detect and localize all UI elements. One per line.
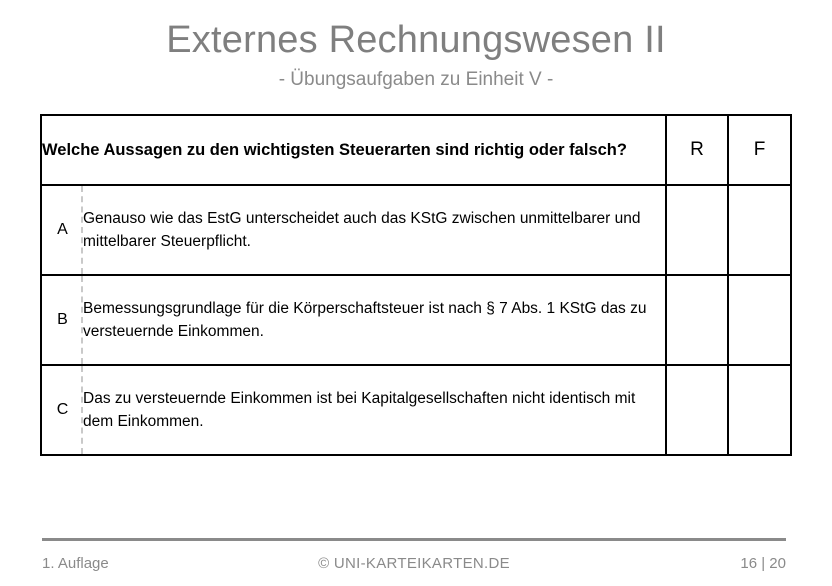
table-row: B Bemessungsgrundlage für die Körperscha… bbox=[41, 275, 791, 365]
footer-edition: 1. Auflage bbox=[42, 555, 290, 572]
dashed-divider bbox=[81, 366, 83, 454]
answer-cell-a-falsch[interactable] bbox=[728, 185, 791, 275]
row-letter-c: C bbox=[41, 365, 83, 455]
statement-text-a: Genauso wie das EstG unterscheidet auch … bbox=[83, 185, 666, 275]
page-header: Externes Rechnungswesen II - Übungsaufga… bbox=[0, 0, 832, 92]
column-header-richtig: R bbox=[666, 115, 728, 185]
table-row: A Genauso wie das EstG unterscheidet auc… bbox=[41, 185, 791, 275]
dashed-divider bbox=[81, 186, 83, 274]
row-letter-label: B bbox=[57, 311, 68, 328]
table-header-row: Welche Aussagen zu den wichtigsten Steue… bbox=[41, 115, 791, 185]
column-header-falsch: F bbox=[728, 115, 791, 185]
answer-cell-a-richtig[interactable] bbox=[666, 185, 728, 275]
row-letter-b: B bbox=[41, 275, 83, 365]
answer-cell-c-falsch[interactable] bbox=[728, 365, 791, 455]
row-letter-label: C bbox=[57, 401, 69, 418]
quiz-table: Welche Aussagen zu den wichtigsten Steue… bbox=[40, 114, 792, 456]
answer-cell-b-richtig[interactable] bbox=[666, 275, 728, 365]
page-subtitle: - Übungsaufgaben zu Einheit V - bbox=[0, 68, 832, 92]
answer-cell-b-falsch[interactable] bbox=[728, 275, 791, 365]
footer-content: 1. Auflage © UNI-KARTEIKARTEN.DE 16 | 20 bbox=[42, 555, 786, 572]
dashed-divider bbox=[81, 276, 83, 364]
row-letter-a: A bbox=[41, 185, 83, 275]
statement-text-b: Bemessungsgrundlage für die Körperschaft… bbox=[83, 275, 666, 365]
table-row: C Das zu versteuernde Einkommen ist bei … bbox=[41, 365, 791, 455]
worksheet-card: Externes Rechnungswesen II - Übungsaufga… bbox=[0, 0, 832, 586]
quiz-table-container: Welche Aussagen zu den wichtigsten Steue… bbox=[40, 114, 790, 456]
footer-copyright: © UNI-KARTEIKARTEN.DE bbox=[290, 555, 538, 572]
footer-divider bbox=[42, 538, 786, 541]
answer-cell-c-richtig[interactable] bbox=[666, 365, 728, 455]
page-title: Externes Rechnungswesen II bbox=[0, 18, 832, 62]
question-prompt: Welche Aussagen zu den wichtigsten Steue… bbox=[41, 115, 666, 185]
row-letter-label: A bbox=[57, 221, 68, 238]
page-footer: 1. Auflage © UNI-KARTEIKARTEN.DE 16 | 20 bbox=[42, 538, 786, 572]
footer-page-number: 16 | 20 bbox=[538, 555, 786, 572]
statement-text-c: Das zu versteuernde Einkommen ist bei Ka… bbox=[83, 365, 666, 455]
